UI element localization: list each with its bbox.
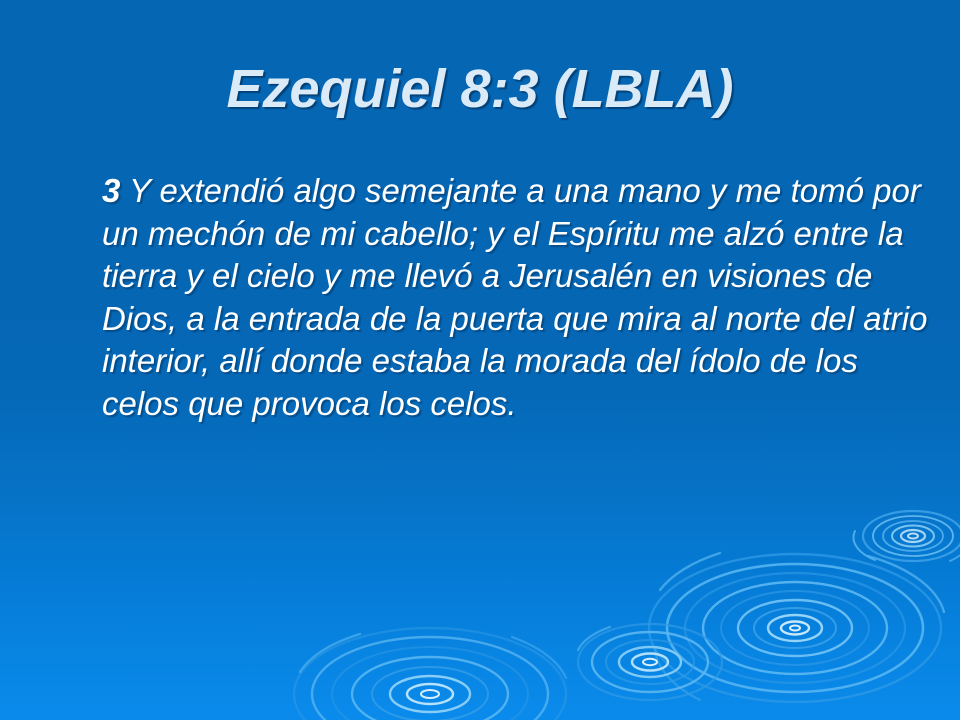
verse-text xyxy=(120,172,129,209)
verse-number: 3 xyxy=(102,172,120,209)
verse-body: 3 Y extendió algo semejante a una mano y… xyxy=(102,170,932,425)
ripple-cluster-b xyxy=(649,553,944,702)
slide-title: Ezequiel 8:3 (LBLA) xyxy=(0,58,960,120)
ripple-cluster-a xyxy=(854,511,960,561)
ripple-cluster-d xyxy=(294,628,566,720)
ripple-cluster-c xyxy=(578,624,722,700)
presentation-slide: Ezequiel 8:3 (LBLA) 3 Y extendió algo se… xyxy=(0,0,960,720)
verse-content: Y extendió algo semejante a una mano y m… xyxy=(102,172,927,422)
